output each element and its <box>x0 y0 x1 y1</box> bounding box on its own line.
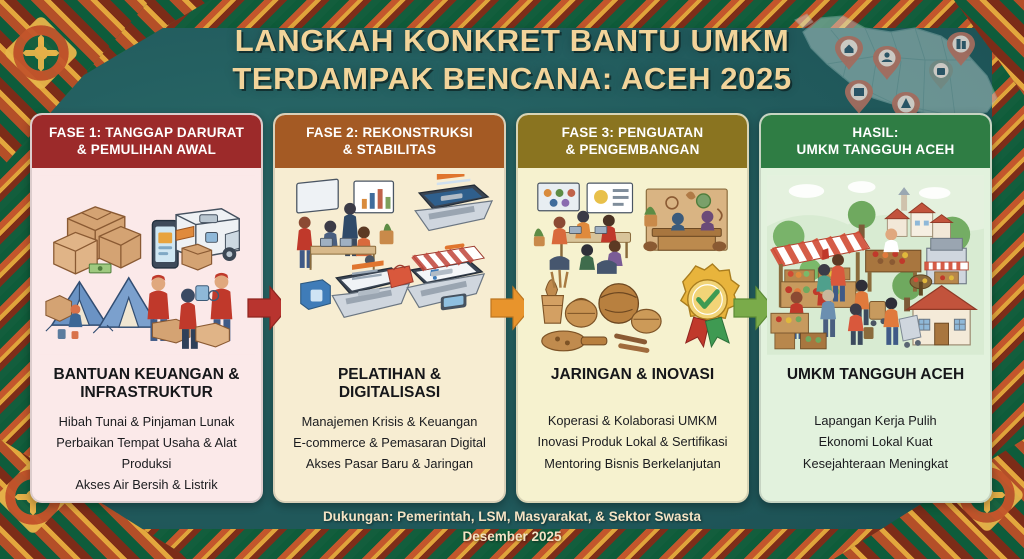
title-line-1: LANGKAH KONKRET BANTU UMKM <box>0 22 1024 60</box>
card-phase-2-header-line-1: FASE 2: REKONSTRUKSI <box>283 124 496 141</box>
illustration-aid-relief <box>38 174 255 356</box>
card-phase-3[interactable]: FASE 3: PENGUATAN & PENGEMBANGAN <box>516 113 749 503</box>
card-result-title: UMKM TANGGUH ACEH <box>771 366 980 385</box>
card-phase-3-point-3: Mentoring Bisnis Berkelanjutan <box>524 453 741 474</box>
card-phase-1-header-line-1: FASE 1: TANGGAP DARURAT <box>40 124 253 141</box>
card-result-point-3: Kesejahteraan Meningkat <box>767 453 984 474</box>
page-title: LANGKAH KONKRET BANTU UMKM TERDAMPAK BEN… <box>0 22 1024 98</box>
card-result-points: Lapangan Kerja Pulih Ekonomi Lokal Kuat … <box>767 410 984 474</box>
card-phase-2-header: FASE 2: REKONSTRUKSI & STABILITAS <box>275 115 504 168</box>
card-phase-3-points: Koperasi & Kolaborasi UMKM Inovasi Produ… <box>524 410 741 474</box>
card-phase-1-point-2: Perbaikan Tempat Usaha & Alat Produksi <box>38 432 255 474</box>
illustration-thriving-market <box>767 174 984 356</box>
card-phase-3-point-2: Inovasi Produk Lokal & Sertifikasi <box>524 431 741 452</box>
card-phase-2-point-2: E-commerce & Pemasaran Digital <box>281 432 498 453</box>
smartphone-icon <box>152 220 178 267</box>
card-result-header-line-1: HASIL: <box>769 124 982 141</box>
card-phase-2-point-3: Akses Pasar Baru & Jaringan <box>281 453 498 474</box>
footer: Dukungan: Pemerintah, LSM, Masyarakat, &… <box>0 507 1024 548</box>
card-phase-2-title-line-2: DIGITALISASI <box>285 384 494 403</box>
footer-date-line: Desember 2025 <box>0 527 1024 547</box>
arrow-phase2-to-phase3 <box>506 285 516 331</box>
card-phase-3-header: FASE 3: PENGUATAN & PENGEMBANGAN <box>518 115 747 168</box>
arrow-phase3-to-result <box>749 285 759 331</box>
card-phase-2-points: Manajemen Krisis & Keuangan E-commerce &… <box>281 411 498 475</box>
card-phase-1-title-line-2: INFRASTRUKTUR <box>42 384 251 403</box>
card-phase-3-point-1: Koperasi & Kolaborasi UMKM <box>524 410 741 431</box>
cash-icon <box>89 264 111 273</box>
card-result-header-line-2: UMKM TANGGUH ACEH <box>769 141 982 158</box>
card-phase-1-point-1: Hibah Tunai & Pinjaman Lunak <box>38 411 255 432</box>
card-result-point-2: Ekonomi Lokal Kuat <box>767 431 984 452</box>
card-result[interactable]: HASIL: UMKM TANGGUH ACEH <box>759 113 992 503</box>
card-phase-1-body: BANTUAN KEUANGAN & INFRASTRUKTUR Hibah T… <box>32 168 261 503</box>
card-phase-2-point-1: Manajemen Krisis & Keuangan <box>281 411 498 432</box>
title-line-2: TERDAMPAK BENCANA: ACEH 2025 <box>0 60 1024 98</box>
card-phase-3-title: JARINGAN & INOVASI <box>528 366 737 385</box>
food-stall-icon <box>925 238 968 283</box>
card-phase-1-header: FASE 1: TANGGAP DARURAT & PEMULIHAN AWAL <box>32 115 261 168</box>
card-result-header: HASIL: UMKM TANGGUH ACEH <box>761 115 990 168</box>
card-result-point-1: Lapangan Kerja Pulih <box>767 410 984 431</box>
arrow-phase1-to-phase2 <box>263 285 273 331</box>
card-phase-3-body: JARINGAN & INOVASI Koperasi & Kolaborasi… <box>518 168 747 501</box>
illustration-network-innovation <box>524 174 741 356</box>
craft-shop-icon <box>643 189 727 251</box>
card-phase-3-header-line-2: & PENGEMBANGAN <box>526 141 739 158</box>
card-phase-1-title: BANTUAN KEUANGAN & INFRASTRUKTUR <box>42 366 251 403</box>
card-phase-2-title-line-1: PELATIHAN & <box>285 366 494 385</box>
card-phase-3-header-line-1: FASE 3: PENGUATAN <box>526 124 739 141</box>
card-phase-2-header-line-2: & STABILITAS <box>283 141 496 158</box>
card-result-body: UMKM TANGGUH ACEH Lapangan Kerja Pulih E… <box>761 168 990 501</box>
card-phase-2-title: PELATIHAN & DIGITALISASI <box>285 366 494 403</box>
card-phase-1-title-line-1: BANTUAN KEUANGAN & <box>42 366 251 385</box>
card-phase-1[interactable]: FASE 1: TANGGAP DARURAT & PEMULIHAN AWAL <box>30 113 263 503</box>
infographic-poster: LANGKAH KONKRET BANTU UMKM TERDAMPAK BEN… <box>0 0 1024 559</box>
card-phase-2-body: PELATIHAN & DIGITALISASI Manajemen Krisi… <box>275 168 504 501</box>
card-result-title-line-1: UMKM TANGGUH ACEH <box>771 366 980 385</box>
delivery-truck-icon <box>176 208 239 269</box>
card-phase-3-title-line-1: JARINGAN & INOVASI <box>528 366 737 385</box>
phase-cards-row: FASE 1: TANGGAP DARURAT & PEMULIHAN AWAL <box>30 113 994 503</box>
card-phase-1-point-3: Akses Air Bersih & Listrik <box>38 474 255 495</box>
illustration-training-digital <box>281 174 498 356</box>
card-phase-1-points: Hibah Tunai & Pinjaman Lunak Perbaikan T… <box>38 411 255 496</box>
card-phase-2[interactable]: FASE 2: REKONSTRUKSI & STABILITAS <box>273 113 506 503</box>
footer-support-line: Dukungan: Pemerintah, LSM, Masyarakat, &… <box>0 507 1024 527</box>
card-phase-1-header-line-2: & PEMULIHAN AWAL <box>40 141 253 158</box>
